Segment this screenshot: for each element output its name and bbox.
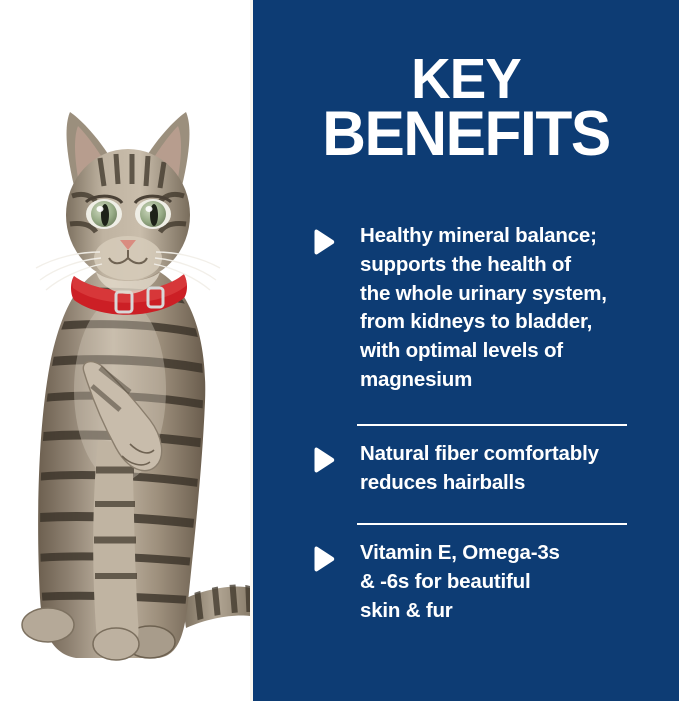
page-title: KEY BENEFITS [262, 52, 671, 162]
cat-image [0, 0, 250, 701]
benefits-list: Healthy mineral balance; supports the he… [253, 222, 679, 626]
spacer [253, 525, 679, 539]
cat-front-leg [93, 440, 139, 660]
benefit-text-3: Vitamin E, Omega-3s & -6s for beautiful … [360, 539, 655, 625]
product-feature-card: KEY BENEFITS Healthy mineral balance; su… [0, 0, 679, 701]
spacer [253, 426, 679, 440]
title-line-2: BENEFITS [262, 107, 671, 162]
benefit-item-3: Vitamin E, Omega-3s & -6s for beautiful … [253, 539, 679, 625]
key-benefits-panel: KEY BENEFITS Healthy mineral balance; su… [253, 0, 679, 701]
benefit-text-2: Natural fiber comfortably reduces hairba… [360, 440, 655, 498]
spacer [253, 395, 679, 424]
play-triangle-icon [311, 447, 336, 473]
benefit-item-2: Natural fiber comfortably reduces hairba… [253, 440, 679, 498]
spacer [253, 497, 679, 523]
play-triangle-icon [311, 229, 336, 255]
cat-photo-panel [0, 0, 250, 701]
play-triangle-icon [311, 546, 336, 572]
cat-head [36, 112, 220, 294]
benefit-text-1: Healthy mineral balance; supports the he… [360, 222, 655, 395]
cat-tail [182, 578, 250, 632]
benefit-item-1: Healthy mineral balance; supports the he… [253, 222, 679, 395]
